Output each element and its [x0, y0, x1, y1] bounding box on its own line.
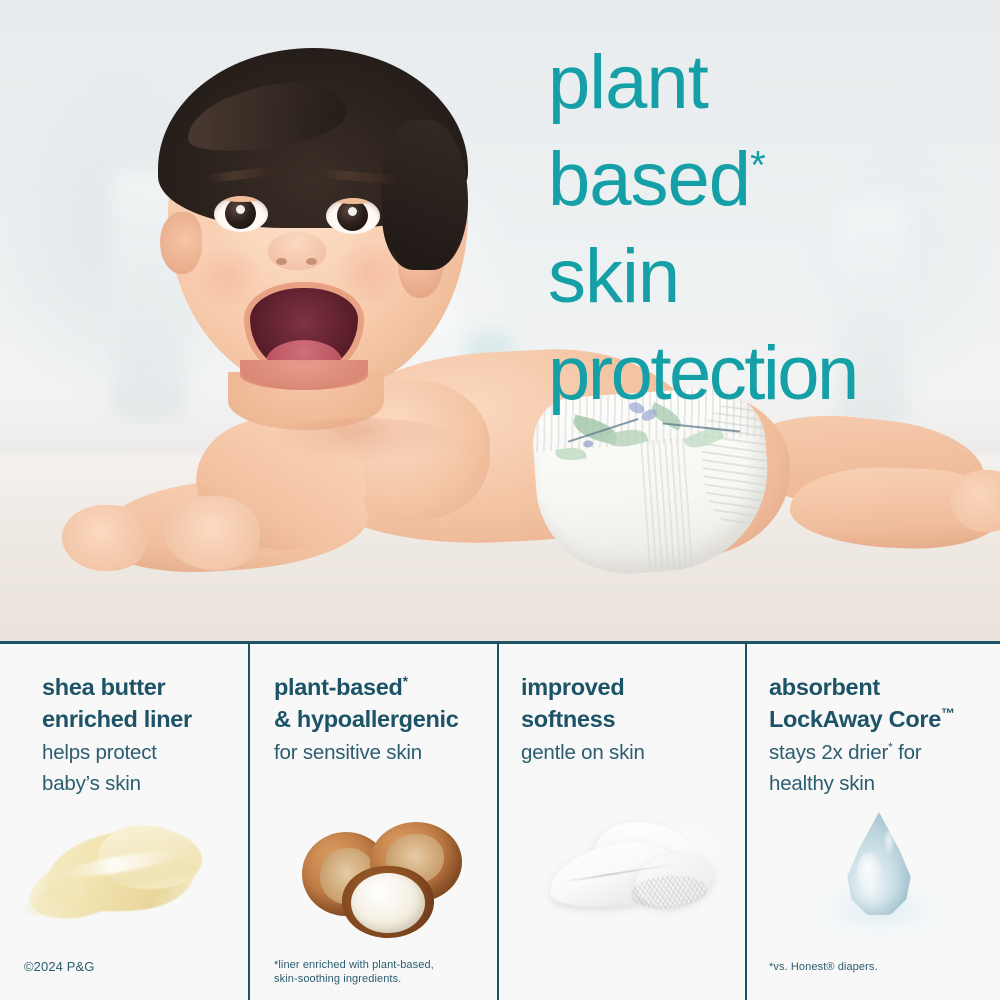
panel-1-sub-line-1: helps protect [42, 741, 157, 764]
panel-4-sub-line-1-tail: for [893, 741, 922, 764]
footnote-line-2: skin-soothing ingredients. [274, 973, 401, 985]
feather-image [499, 804, 745, 954]
panel-2-title: plant-based* & hypoallergenic [274, 671, 479, 735]
panel-1-title-line-2: enriched liner [42, 706, 192, 732]
eye-glint-icon [236, 205, 245, 214]
panel-3-title-line-1: improved [521, 674, 624, 700]
droplet-highlight [857, 852, 883, 892]
headline: plant based* skin protection [548, 34, 988, 422]
trademark-icon: ™ [941, 705, 955, 721]
baby-hand-left [164, 496, 260, 570]
baby-nostril [306, 258, 317, 265]
panel-3-title: improved softness [521, 671, 727, 735]
headline-line-2-text: based [548, 137, 750, 222]
baby-eye-right [326, 198, 380, 234]
panel-2-title-line-1: plant-based [274, 674, 403, 700]
shea-nuts-image [250, 804, 497, 954]
water-droplet-image [747, 804, 1000, 954]
shea-nut-cracked [342, 866, 434, 938]
baby-nostril [276, 258, 287, 265]
baby-cheek-right [330, 244, 408, 302]
baby-nose [268, 232, 326, 270]
baby-eye-left [214, 196, 268, 232]
baby-cheek-left [190, 248, 268, 306]
feature-panel-lockaway-core: absorbent LockAway Core™ stays 2x drier*… [745, 644, 1000, 1000]
shea-butter-swatch-image [0, 804, 248, 954]
baby-eyelid-left [214, 196, 268, 202]
headline-line-1: plant [548, 34, 988, 131]
feature-panel-plant-based: plant-based* & hypoallergenic for sensit… [248, 644, 497, 1000]
baby-eyelid-right [326, 198, 380, 204]
panel-1-subtitle: helps protect baby’s skin [42, 737, 230, 799]
panel-3-sub-line-1: gentle on skin [521, 741, 645, 764]
panel-1-sub-line-2: baby’s skin [42, 772, 141, 795]
headline-asterisk: * [750, 144, 766, 188]
panel-4-subtitle: stays 2x drier* for healthy skin [769, 737, 982, 799]
baby-neck [268, 418, 458, 462]
feather [539, 810, 729, 934]
panel-1-title-line-1: shea butter [42, 674, 165, 700]
footnote-line-1: *liner enriched with plant-based, [274, 959, 434, 971]
baby-iris-left [225, 198, 256, 229]
panel-2-title-line-2: & hypoallergenic [274, 706, 459, 732]
panel-3-title-line-2: softness [521, 706, 615, 732]
nut-kernel [351, 873, 425, 933]
advertisement-page: plant based* skin protection shea butter… [0, 0, 1000, 1000]
panel-2-subtitle: for sensitive skin [274, 737, 479, 768]
lockaway-footnote: *vs. Honest® diapers. [769, 960, 878, 974]
panel-4-sub-line-1: stays 2x drier [769, 741, 888, 764]
headline-line-3: skin [548, 228, 988, 325]
panel-1-title: shea butter enriched liner [42, 671, 230, 735]
panel-4-title: absorbent LockAway Core™ [769, 671, 982, 735]
panel-4-title-line-1: absorbent [769, 674, 880, 700]
copyright-notice: ©2024 P&G [24, 960, 94, 974]
plant-based-footnote: *liner enriched with plant-based, skin-s… [274, 958, 434, 986]
feature-panel-shea-butter: shea butter enriched liner helps protect… [0, 644, 248, 1000]
droplet-highlight [883, 830, 895, 856]
baby-lower-lip [240, 360, 368, 390]
feature-panels: shea butter enriched liner helps protect… [0, 641, 1000, 1000]
eye-glint-icon [348, 207, 357, 216]
headline-line-4: protection [548, 325, 988, 422]
butter-swatch [28, 822, 210, 928]
water-droplet [805, 804, 955, 946]
panel-3-subtitle: gentle on skin [521, 737, 727, 768]
panel-4-title-line-2: LockAway Core [769, 706, 941, 732]
diaper-gather [640, 438, 693, 571]
droplet-shape-icon [843, 812, 915, 916]
panel-2-sub-line-1: for sensitive skin [274, 741, 422, 764]
panel-2-title-asterisk: * [403, 673, 408, 689]
hero-section: plant based* skin protection [0, 0, 1000, 641]
panel-4-sub-line-2: healthy skin [769, 772, 875, 795]
baby-hair-side [382, 120, 468, 270]
baby-hand-right [62, 505, 148, 571]
feature-panel-softness: improved softness gentle on skin [497, 644, 745, 1000]
baby-iris-right [337, 200, 368, 231]
headline-line-2: based* [548, 131, 988, 228]
shea-nuts [302, 814, 468, 934]
